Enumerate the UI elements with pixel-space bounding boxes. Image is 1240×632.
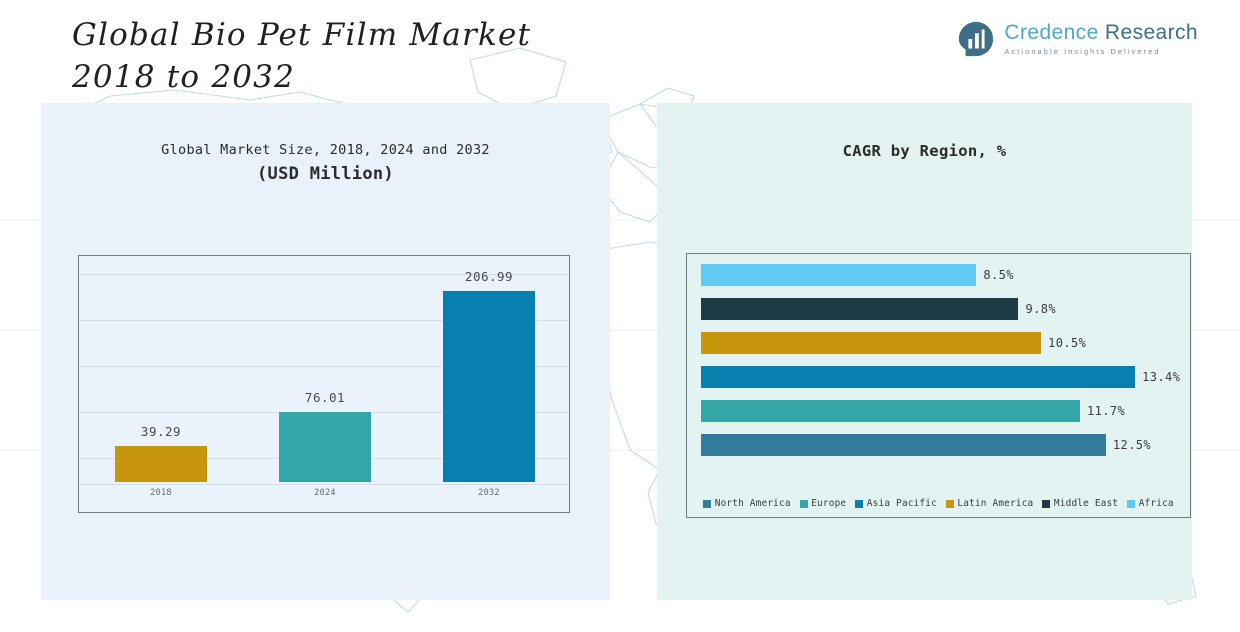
bar-2018: [115, 446, 207, 482]
hbar-plot-area: 8.5%9.8%10.5%13.4%11.7%12.5%: [687, 264, 1190, 469]
bar-2024: [279, 412, 371, 482]
hbar-row-north-america: 12.5%: [701, 434, 1184, 456]
hbar-value-label: 8.5%: [983, 268, 1014, 282]
x-axis-labels: 201820242032: [79, 488, 569, 504]
hbar-value-label: 13.4%: [1142, 370, 1180, 384]
infographic-canvas: Global Bio Pet Film Market 2018 to 2032 …: [0, 0, 1240, 632]
bar-group-2018: 39.29: [115, 262, 207, 482]
legend-item-asia-pacific[interactable]: Asia Pacific: [855, 498, 937, 509]
legend-swatch-icon: [946, 500, 954, 508]
x-axis-label-2024: 2024: [243, 488, 407, 498]
right-panel: CAGR by Region, % 8.5%9.8%10.5%13.4%11.7…: [657, 103, 1192, 600]
legend-swatch-icon: [703, 500, 711, 508]
left-panel: Global Market Size, 2018, 2024 and 2032 …: [41, 103, 610, 600]
legend-swatch-icon: [800, 500, 808, 508]
legend-label: Asia Pacific: [867, 498, 937, 509]
left-chart-title: Global Market Size, 2018, 2024 and 2032: [41, 142, 610, 158]
hbar-europe: [701, 400, 1080, 422]
legend-item-middle-east[interactable]: Middle East: [1042, 498, 1118, 509]
bar-value-label: 206.99: [465, 269, 513, 284]
legend-swatch-icon: [1127, 500, 1135, 508]
hbar-row-asia-pacific: 13.4%: [701, 366, 1184, 388]
hbar-row-europe: 11.7%: [701, 400, 1184, 422]
global-market-size-chart: 39.2976.01206.99 201820242032: [78, 255, 570, 513]
hbar-middle-east: [701, 298, 1018, 320]
bar-group-2032: 206.99: [443, 262, 535, 482]
legend-item-africa[interactable]: Africa: [1127, 498, 1174, 509]
left-chart-subtitle: (USD Million): [41, 164, 610, 184]
hbar-value-label: 12.5%: [1113, 438, 1151, 452]
bar-value-label: 39.29: [141, 424, 181, 439]
legend-label: Africa: [1139, 498, 1174, 509]
legend-item-europe[interactable]: Europe: [800, 498, 847, 509]
hbar-value-label: 11.7%: [1087, 404, 1125, 418]
hbar-latin-america: [701, 332, 1041, 354]
legend-label: Middle East: [1054, 498, 1118, 509]
bar-value-label: 76.01: [305, 390, 345, 405]
hbar-value-label: 10.5%: [1048, 336, 1086, 350]
logo-name-secondary: Research: [1105, 21, 1198, 44]
x-axis-label-2032: 2032: [407, 488, 571, 498]
hbar-north-america: [701, 434, 1106, 456]
legend-label: Latin America: [957, 498, 1033, 509]
bar-2032: [443, 291, 535, 482]
logo-tagline: Actionable Insights Delivered: [1004, 48, 1198, 55]
legend-label: Europe: [811, 498, 846, 509]
chart-legend: North AmericaEuropeAsia PacificLatin Ame…: [687, 498, 1190, 509]
legend-swatch-icon: [855, 500, 863, 508]
hbar-asia-pacific: [701, 366, 1135, 388]
hbar-value-label: 9.8%: [1025, 302, 1056, 316]
legend-item-north-america[interactable]: North America: [703, 498, 790, 509]
hbar-africa: [701, 264, 976, 286]
page-title: Global Bio Pet Film Market 2018 to 2032: [72, 14, 672, 98]
bar-plot-area: 39.2976.01206.99: [79, 262, 569, 482]
bar-group-2024: 76.01: [279, 262, 371, 482]
right-chart-title: CAGR by Region, %: [657, 142, 1192, 160]
hbar-row-middle-east: 9.8%: [701, 298, 1184, 320]
legend-label: North America: [715, 498, 791, 509]
logo-name-primary: Credence: [1004, 21, 1098, 44]
cagr-by-region-chart: 8.5%9.8%10.5%13.4%11.7%12.5% North Ameri…: [686, 253, 1191, 518]
legend-item-latin-america[interactable]: Latin America: [946, 498, 1033, 509]
logo-wordmark: Credence Research: [1004, 22, 1198, 43]
x-axis-label-2018: 2018: [79, 488, 243, 498]
brand-logo: Credence Research Actionable Insights De…: [957, 20, 1198, 58]
hbar-row-africa: 8.5%: [701, 264, 1184, 286]
credence-bars-circle-icon: [957, 20, 995, 58]
hbar-row-latin-america: 10.5%: [701, 332, 1184, 354]
legend-swatch-icon: [1042, 500, 1050, 508]
